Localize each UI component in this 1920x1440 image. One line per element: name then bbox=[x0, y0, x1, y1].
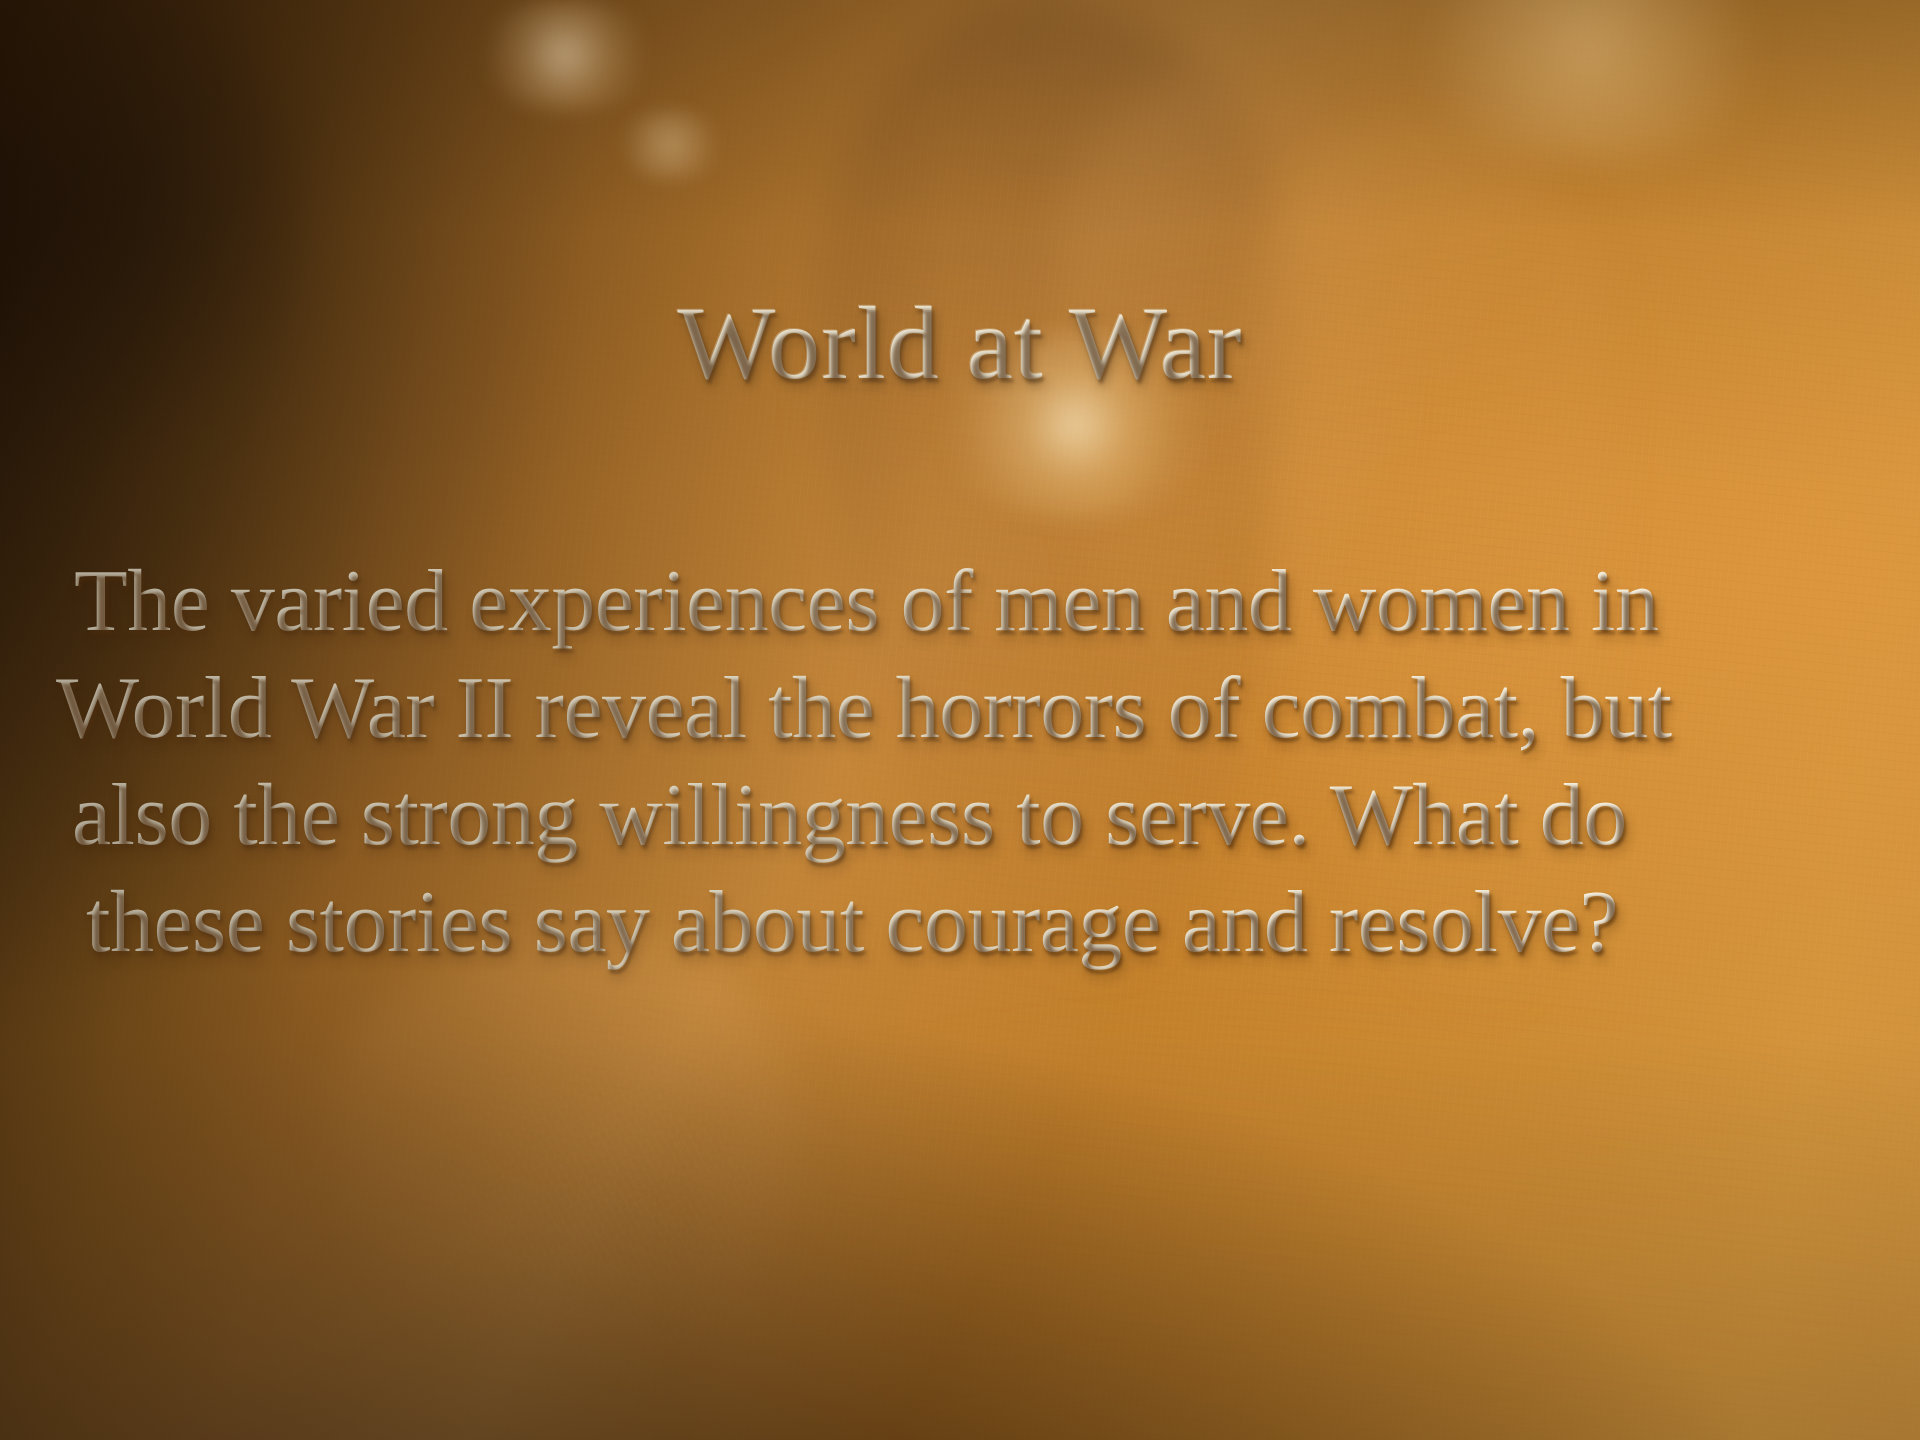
panel-body: The varied experiences of men and women … bbox=[56, 548, 1888, 976]
panel-text-block: World at War The varied experiences of m… bbox=[0, 0, 1920, 1440]
panel-body-line-4: these stories say about courage and reso… bbox=[56, 869, 1888, 976]
panel-body-line-3: also the strong willingness to serve. Wh… bbox=[56, 762, 1888, 869]
panel-body-line-2: World War II reveal the horrors of comba… bbox=[56, 655, 1888, 762]
panel-body-line-1: The varied experiences of men and women … bbox=[56, 548, 1888, 655]
panel-title: World at War bbox=[0, 292, 1920, 396]
exhibit-panel-photo: World at War The varied experiences of m… bbox=[0, 0, 1920, 1440]
